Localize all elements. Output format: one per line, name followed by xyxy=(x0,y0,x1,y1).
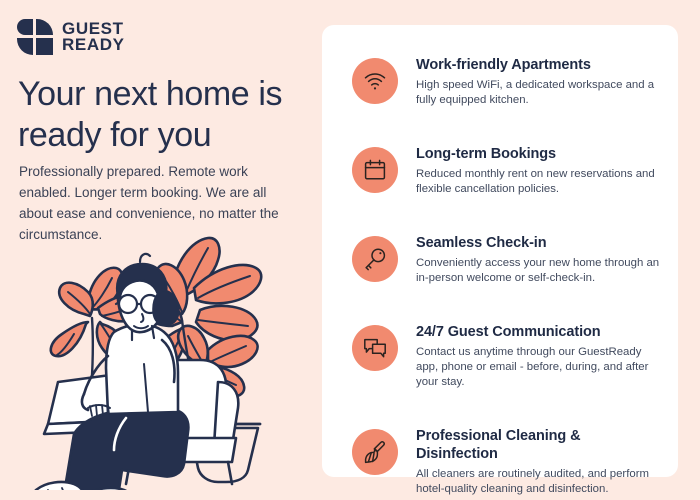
feature-title: Work-friendly Apartments xyxy=(416,56,662,74)
feature-title: Seamless Check-in xyxy=(416,234,662,252)
feature-item-work-friendly-apartments[interactable]: Work-friendly Apartments High speed WiFi… xyxy=(322,55,678,108)
feature-text: Work-friendly Apartments High speed WiFi… xyxy=(416,55,662,108)
feature-description: Conveniently access your new home throug… xyxy=(416,256,662,286)
feature-description: Reduced monthly rent on new reservations… xyxy=(416,167,662,197)
feature-item-seamless-check-in[interactable]: Seamless Check-in Conveniently access yo… xyxy=(322,233,678,286)
guestready-quadrant-logo-icon xyxy=(17,19,53,55)
page-title: Your next home is ready for you xyxy=(18,74,310,156)
feature-item-professional-cleaning[interactable]: Professional Cleaning & Disinfection All… xyxy=(322,426,678,497)
brand-word-line2: READY xyxy=(62,37,125,53)
promo-page: GUEST READY Your next home is ready for … xyxy=(0,0,700,500)
broom-icon xyxy=(352,429,398,475)
feature-list: Work-friendly Apartments High speed WiFi… xyxy=(322,25,678,497)
feature-description: High speed WiFi, a dedicated workspace a… xyxy=(416,78,662,108)
feature-text: Professional Cleaning & Disinfection All… xyxy=(416,426,662,497)
brand-logo[interactable]: GUEST READY xyxy=(17,19,125,55)
feature-title: 24/7 Guest Communication xyxy=(416,323,662,341)
feature-title: Long-term Bookings xyxy=(416,145,662,163)
feature-item-guest-communication[interactable]: 24/7 Guest Communication Contact us anyt… xyxy=(322,322,678,390)
hero-column: GUEST READY Your next home is ready for … xyxy=(0,0,322,500)
feature-title: Professional Cleaning & Disinfection xyxy=(416,427,662,463)
feature-description: All cleaners are routinely audited, and … xyxy=(416,467,662,497)
feature-text: 24/7 Guest Communication Contact us anyt… xyxy=(416,322,662,390)
feature-text: Seamless Check-in Conveniently access yo… xyxy=(416,233,662,286)
feature-item-long-term-bookings[interactable]: Long-term Bookings Reduced monthly rent … xyxy=(322,144,678,197)
key-icon xyxy=(352,236,398,282)
calendar-icon xyxy=(352,147,398,193)
wifi-icon xyxy=(352,58,398,104)
feature-text: Long-term Bookings Reduced monthly rent … xyxy=(416,144,662,197)
brand-wordmark: GUEST READY xyxy=(62,21,125,53)
chat-bubbles-icon xyxy=(352,325,398,371)
hero-illustration xyxy=(22,222,307,490)
feature-description: Contact us anytime through our GuestRead… xyxy=(416,345,662,390)
features-panel: Work-friendly Apartments High speed WiFi… xyxy=(322,25,678,477)
